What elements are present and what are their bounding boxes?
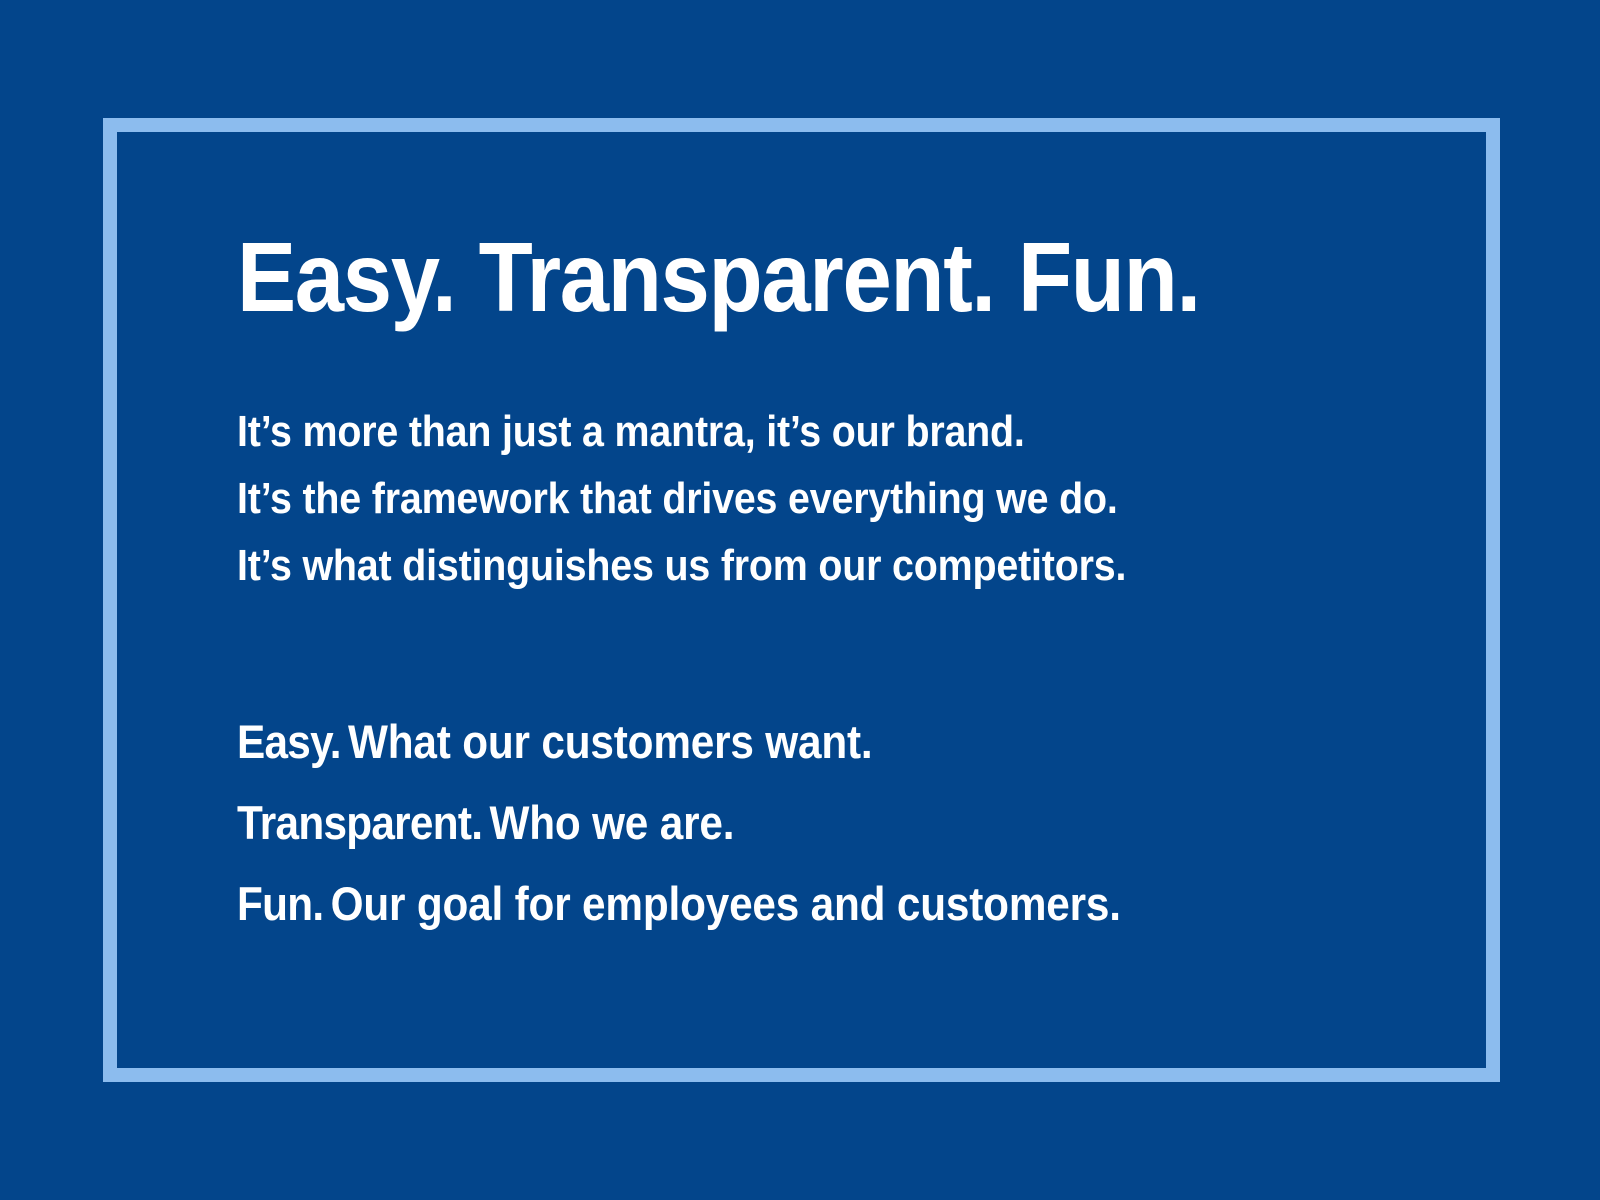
page-title: Easy. Transparent. Fun. [237, 228, 1305, 328]
value-term-fun: Fun. [237, 877, 323, 930]
value-list: Easy.What our customers want. Transparen… [237, 599, 1417, 944]
intro-line-3: It’s what distinguishes us from our comp… [237, 532, 1293, 599]
value-description-transparent: Who we are. [482, 796, 734, 849]
slide-content: Easy. Transparent. Fun. It’s more than j… [237, 228, 1417, 944]
value-item-fun: Fun.Our goal for employees and customers… [237, 863, 1299, 944]
value-description-easy: What our customers want. [341, 715, 873, 768]
value-term-easy: Easy. [237, 715, 341, 768]
value-item-easy: Easy.What our customers want. [237, 701, 1299, 782]
intro-paragraph: It’s more than just a mantra, it’s our b… [237, 328, 1417, 599]
value-term-transparent: Transparent. [237, 796, 482, 849]
slide-canvas: Easy. Transparent. Fun. It’s more than j… [0, 0, 1600, 1200]
value-description-fun: Our goal for employees and customers. [323, 877, 1120, 930]
value-item-transparent: Transparent.Who we are. [237, 782, 1299, 863]
intro-line-2: It’s the framework that drives everythin… [237, 465, 1293, 532]
intro-line-1: It’s more than just a mantra, it’s our b… [237, 398, 1293, 465]
